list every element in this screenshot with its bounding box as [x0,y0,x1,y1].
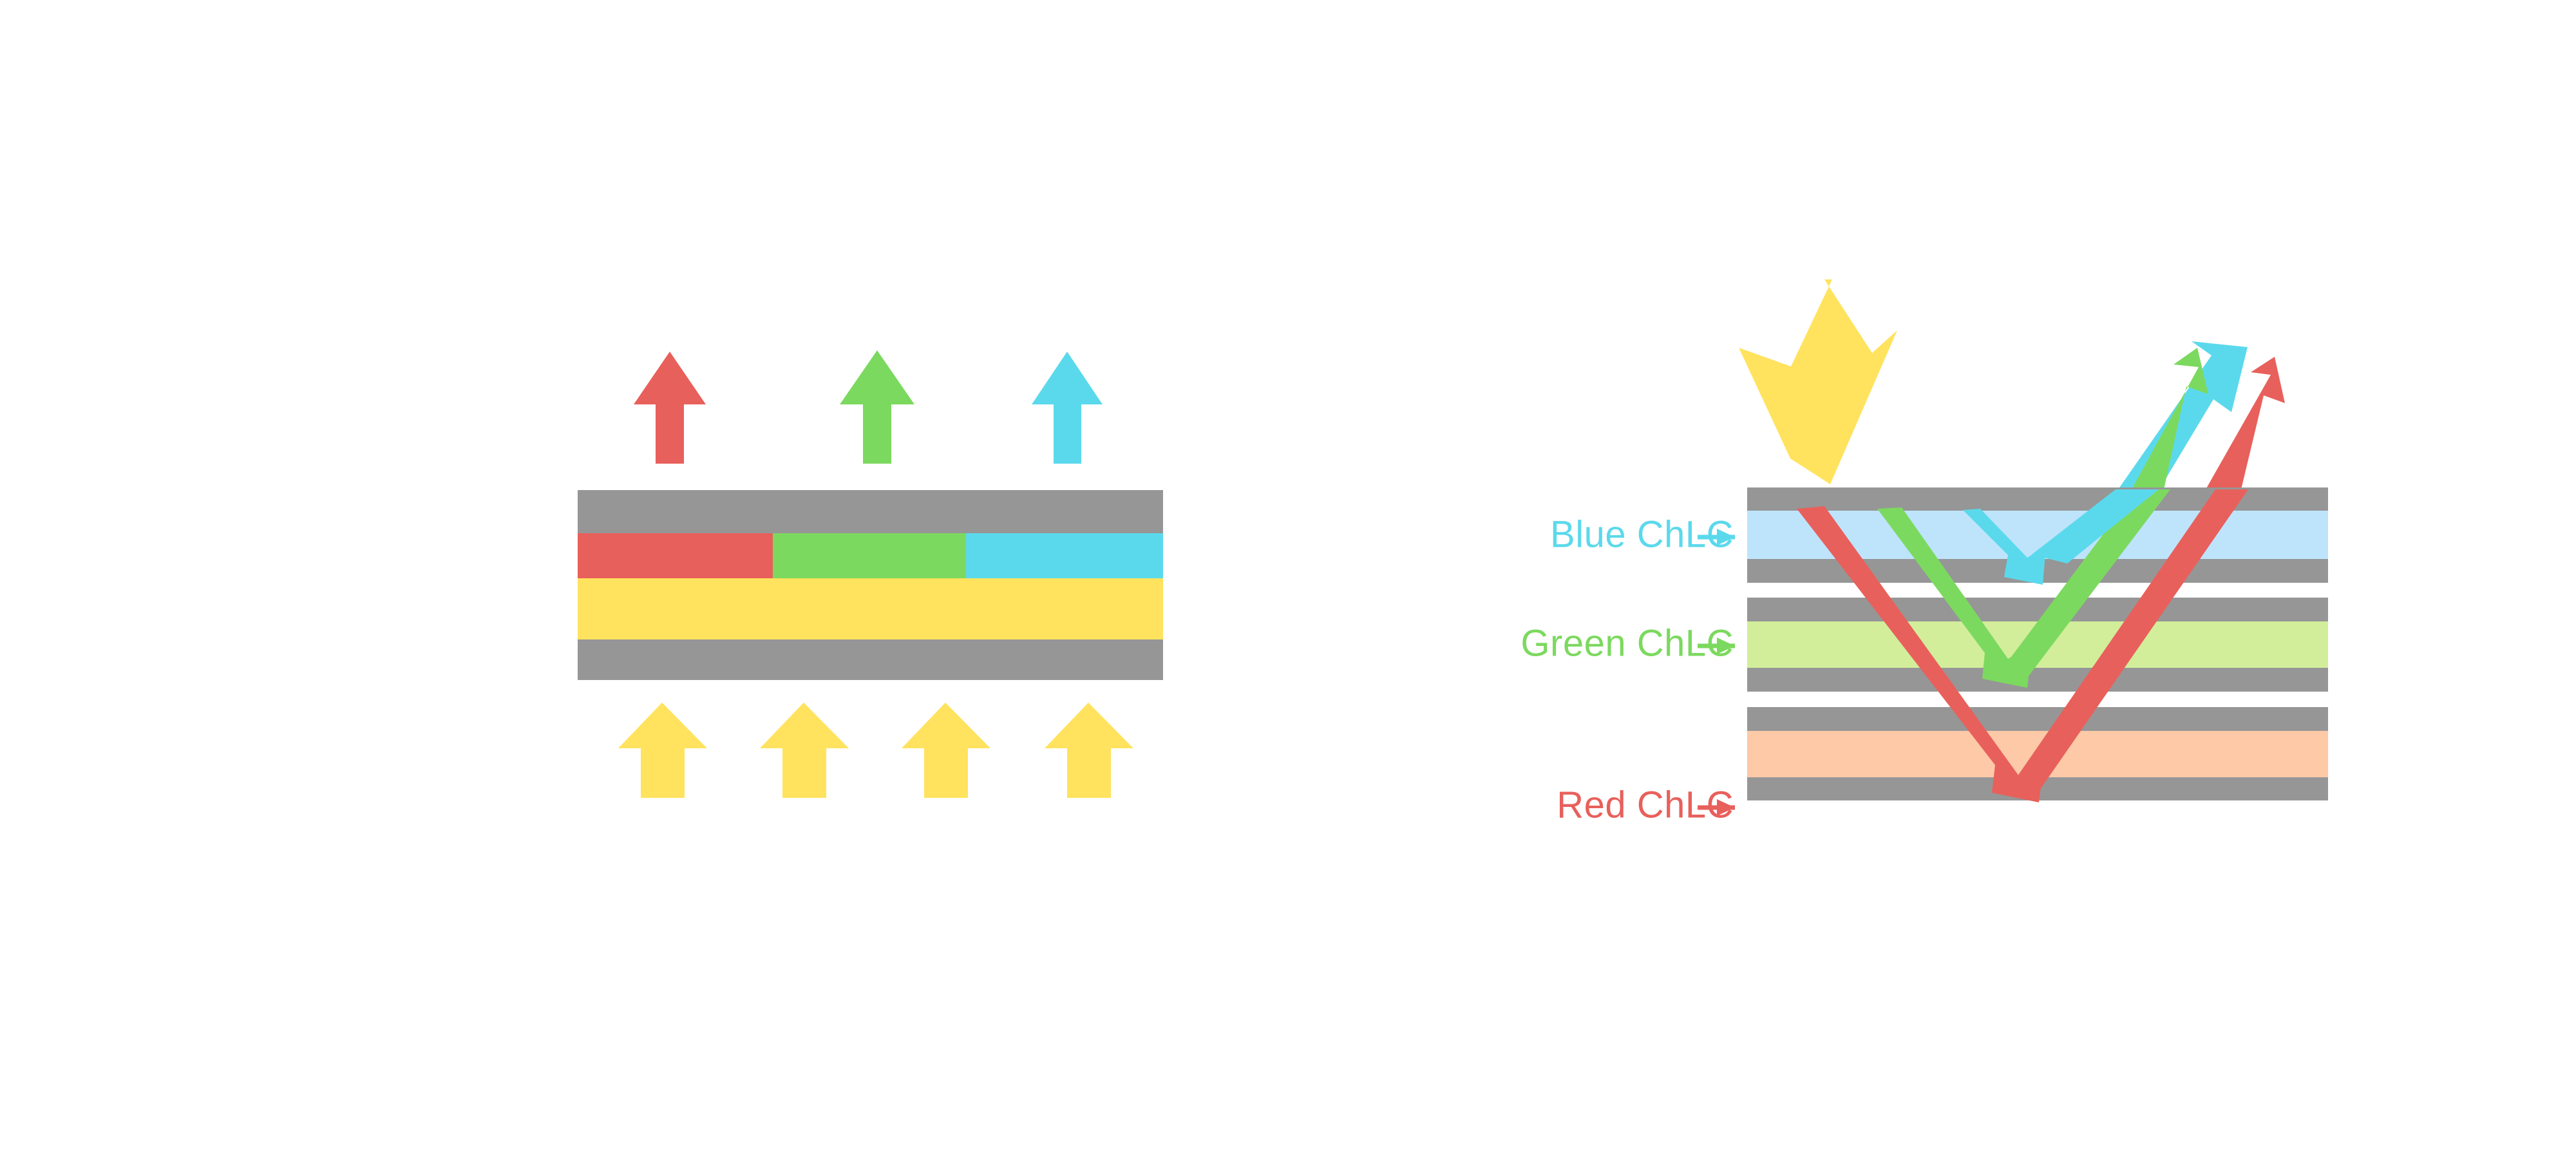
rays-above-stack [2118,341,2285,489]
right-electrode-5 [1747,707,2328,731]
gap-2 [1747,692,2328,707]
diagram-canvas: Blue ChLC Green ChLC Red ChLC [0,0,2576,1154]
chlc-labels: Blue ChLC Green ChLC Red ChLC [1520,513,1735,826]
right-electrode-4 [1747,668,2328,692]
label-red-chlc: Red ChLC [1557,784,1734,826]
gap-1 [1747,583,2328,598]
incident-light-arrow [1739,279,1897,484]
label-blue-chlc: Blue ChLC [1550,513,1734,555]
right-panel: Blue ChLC Green ChLC Red ChLC [0,0,2576,1154]
label-green-chlc: Green ChLC [1520,622,1734,664]
right-electrode-3 [1747,598,2328,621]
